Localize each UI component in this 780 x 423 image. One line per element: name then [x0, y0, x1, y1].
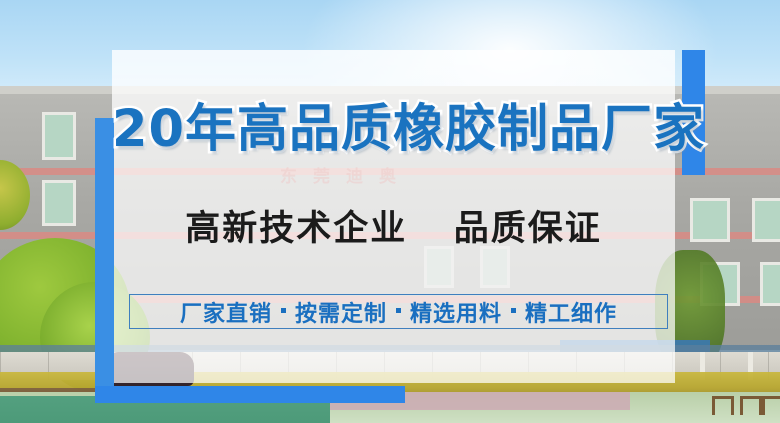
subheadline-part-1: 高新技术企业: [185, 209, 407, 249]
tagline-item: 厂家直销: [180, 296, 272, 328]
tagline-box: 厂家直销按需定制精选用料精工细作: [129, 294, 668, 329]
tagline-separator-dot: [396, 308, 401, 313]
building-window: [752, 198, 780, 242]
building-window: [760, 262, 780, 306]
headline: 20年高品质橡胶制品厂家: [112, 100, 675, 160]
bench: [712, 396, 734, 415]
tagline: 厂家直销按需定制精选用料精工细作: [180, 296, 617, 328]
building-window: [42, 112, 76, 160]
tagline-item: 按需定制: [295, 296, 387, 328]
tagline-item: 精工细作: [525, 296, 617, 328]
tagline-separator-dot: [281, 308, 286, 313]
tagline-separator-dot: [511, 308, 516, 313]
accent-bar-bottom: [95, 386, 405, 403]
bench: [740, 396, 762, 415]
building-window: [42, 180, 76, 226]
banner-stage: 东莞迪奥 20年高品质橡胶制品厂家 高新技术企业 品质保证 厂家直销按需定: [0, 0, 780, 423]
bench: [762, 396, 780, 415]
subheadline-part-2: 品质保证: [454, 209, 602, 249]
tagline-item: 精选用料: [410, 296, 502, 328]
building-window: [690, 198, 730, 242]
subheadline: 高新技术企业 品质保证: [112, 200, 675, 251]
